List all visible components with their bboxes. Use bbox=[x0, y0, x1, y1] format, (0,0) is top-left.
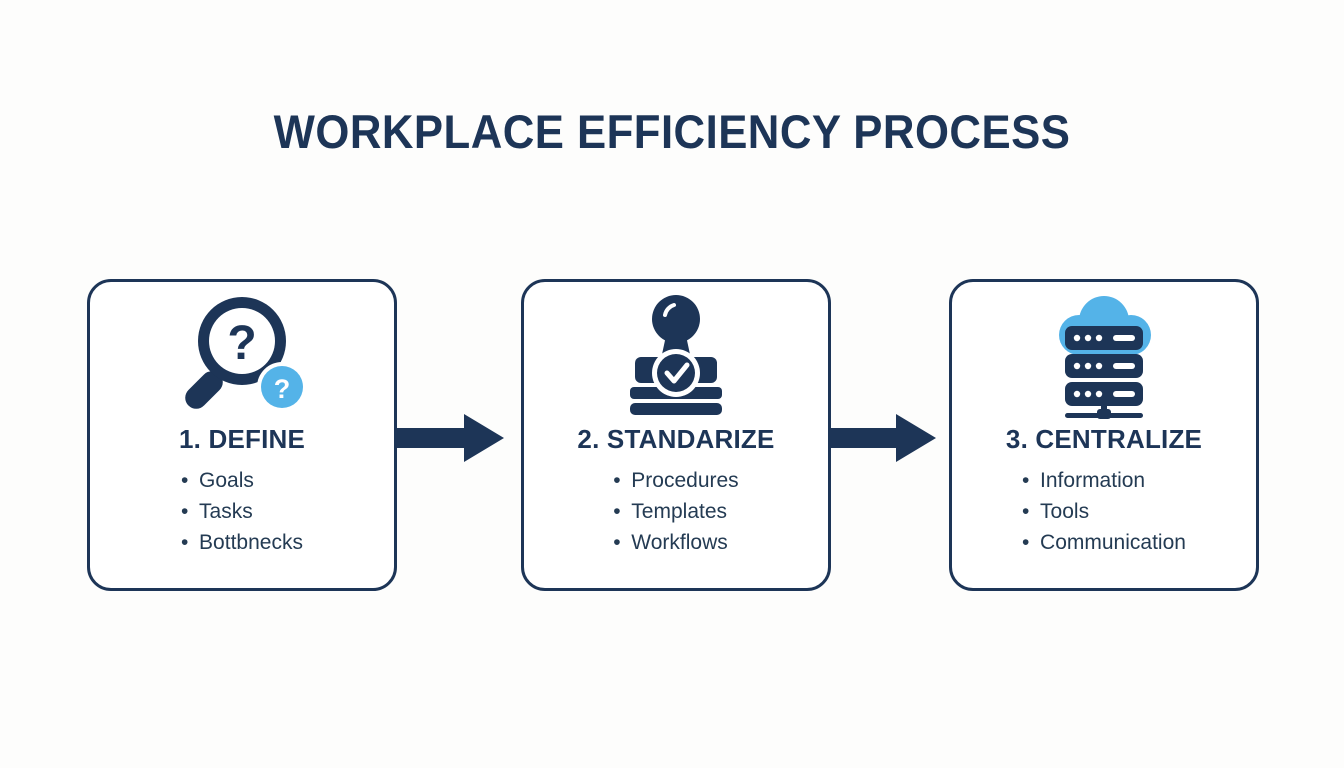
list-item: •Communication bbox=[1022, 527, 1186, 558]
bullet-marker: • bbox=[613, 465, 620, 496]
bullet-marker: • bbox=[181, 527, 188, 558]
step-heading: 2. STANDARIZE bbox=[577, 424, 774, 455]
step-card-standarize[interactable]: 2. STANDARIZE •Procedures •Templates •Wo… bbox=[521, 279, 831, 591]
list-item-label: Procedures bbox=[631, 469, 738, 492]
list-item: •Templates bbox=[613, 496, 738, 527]
step-heading: 3. CENTRALIZE bbox=[1006, 424, 1202, 455]
svg-text:?: ? bbox=[227, 317, 256, 370]
bullet-marker: • bbox=[181, 465, 188, 496]
step-card-centralize[interactable]: 3. CENTRALIZE •Information •Tools •Commu… bbox=[949, 279, 1259, 591]
infographic-canvas: WORKPLACE EFFICIENCY PROCESS ? ? bbox=[0, 0, 1344, 768]
arrow-step1-to-step2 bbox=[396, 414, 504, 462]
list-item-label: Tools bbox=[1040, 500, 1089, 523]
list-item-label: Goals bbox=[199, 469, 254, 492]
list-item: •Procedures bbox=[613, 465, 738, 496]
list-item: •Tasks bbox=[181, 496, 303, 527]
list-item: •Goals bbox=[181, 465, 303, 496]
bullet-marker: • bbox=[613, 496, 620, 527]
list-item: •Tools bbox=[1022, 496, 1186, 527]
cloud-server-rack-icon bbox=[1041, 290, 1167, 422]
bullet-marker: • bbox=[1022, 496, 1029, 527]
step-heading: 1. DEFINE bbox=[179, 424, 305, 455]
magnifying-glass-question-icon: ? ? bbox=[176, 290, 308, 422]
list-item-label: Information bbox=[1040, 469, 1145, 492]
list-item: •Workflows bbox=[613, 527, 738, 558]
list-item-label: Templates bbox=[631, 500, 727, 523]
arrow-step2-to-step3 bbox=[828, 414, 936, 462]
list-item-label: Communication bbox=[1040, 531, 1186, 554]
list-item: •Information bbox=[1022, 465, 1186, 496]
list-item-label: Bottbnecks bbox=[199, 531, 303, 554]
list-item-label: Workflows bbox=[631, 531, 727, 554]
bullet-marker: • bbox=[181, 496, 188, 527]
bullet-marker: • bbox=[1022, 527, 1029, 558]
bullet-marker: • bbox=[1022, 465, 1029, 496]
process-steps-row: ? ? 1. DEFINE •Goals •Tasks •Bottbnecks bbox=[0, 279, 1344, 591]
step-bullet-list: •Goals •Tasks •Bottbnecks bbox=[181, 465, 303, 558]
svg-text:?: ? bbox=[274, 374, 291, 404]
list-item-label: Tasks bbox=[199, 500, 253, 523]
step-bullet-list: •Information •Tools •Communication bbox=[1022, 465, 1186, 558]
page-title: WORKPLACE EFFICIENCY PROCESS bbox=[47, 104, 1297, 159]
bullet-marker: • bbox=[613, 527, 620, 558]
rubber-stamp-check-icon bbox=[615, 290, 737, 422]
list-item: •Bottbnecks bbox=[181, 527, 303, 558]
step-bullet-list: •Procedures •Templates •Workflows bbox=[613, 465, 738, 558]
step-card-define[interactable]: ? ? 1. DEFINE •Goals •Tasks •Bottbnecks bbox=[87, 279, 397, 591]
